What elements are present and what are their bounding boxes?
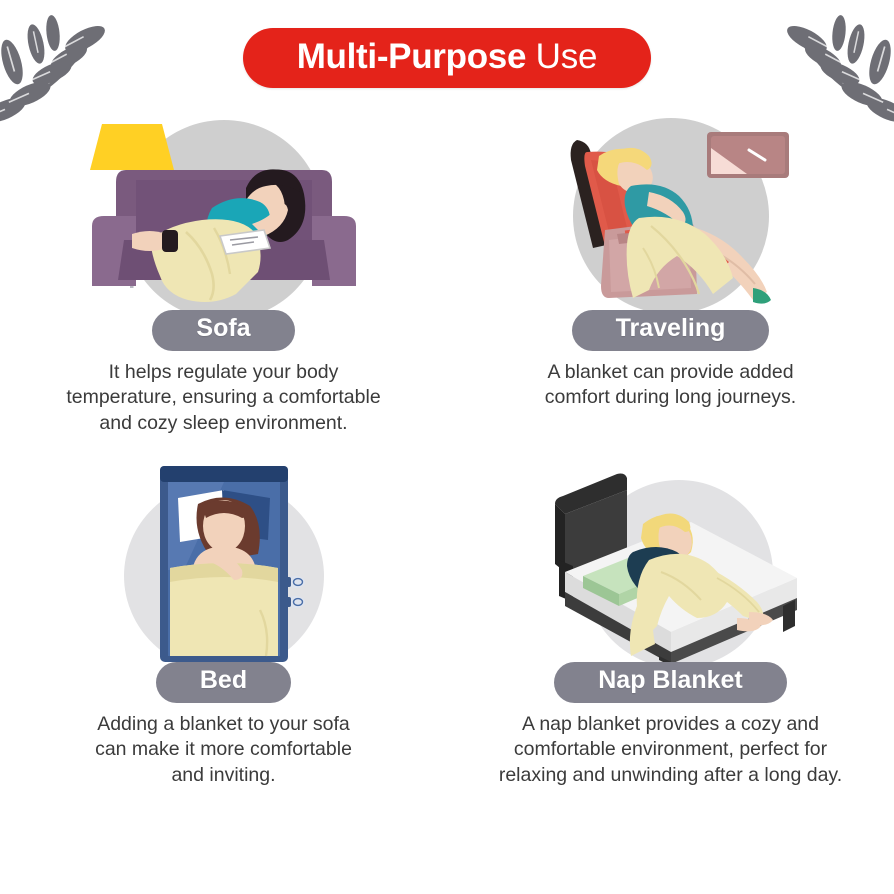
card-caption-sofa: It helps regulate your body temperature,… [66, 360, 380, 438]
feature-card-nap-blanket[interactable]: Nap Blanket A nap blanket provides a coz… [447, 460, 894, 812]
card-label-nap-blanket: Nap Blanket [554, 662, 786, 703]
person-napping-bed-isometric-illustration [521, 460, 821, 670]
feature-card-bed[interactable]: Bed Adding a blanket to your sofa can ma… [0, 460, 447, 812]
feature-card-sofa[interactable]: Sofa It helps regulate your body tempera… [0, 108, 447, 460]
woman-traveling-seat-illustration [521, 108, 821, 318]
page-title-light: Use [526, 37, 597, 76]
woman-in-bed-topdown-illustration [74, 460, 374, 670]
card-label-bed: Bed [156, 662, 291, 703]
title-pill: Multi-Purpose Use [243, 28, 652, 88]
feature-card-traveling[interactable]: Traveling A blanket can provide added co… [447, 108, 894, 460]
card-caption-traveling: A blanket can provide added comfort duri… [545, 360, 796, 412]
woman-on-sofa-illustration [74, 108, 374, 318]
page-title-strong: Multi-Purpose [297, 37, 526, 76]
card-caption-bed: Adding a blanket to your sofa can make i… [95, 712, 352, 790]
card-label-sofa: Sofa [152, 310, 294, 351]
page-title-banner: Multi-Purpose Use [0, 28, 894, 88]
card-label-traveling: Traveling [572, 310, 770, 351]
card-caption-nap-blanket: A nap blanket provides a cozy and comfor… [499, 712, 842, 790]
feature-card-grid: Sofa It helps regulate your body tempera… [0, 108, 894, 812]
